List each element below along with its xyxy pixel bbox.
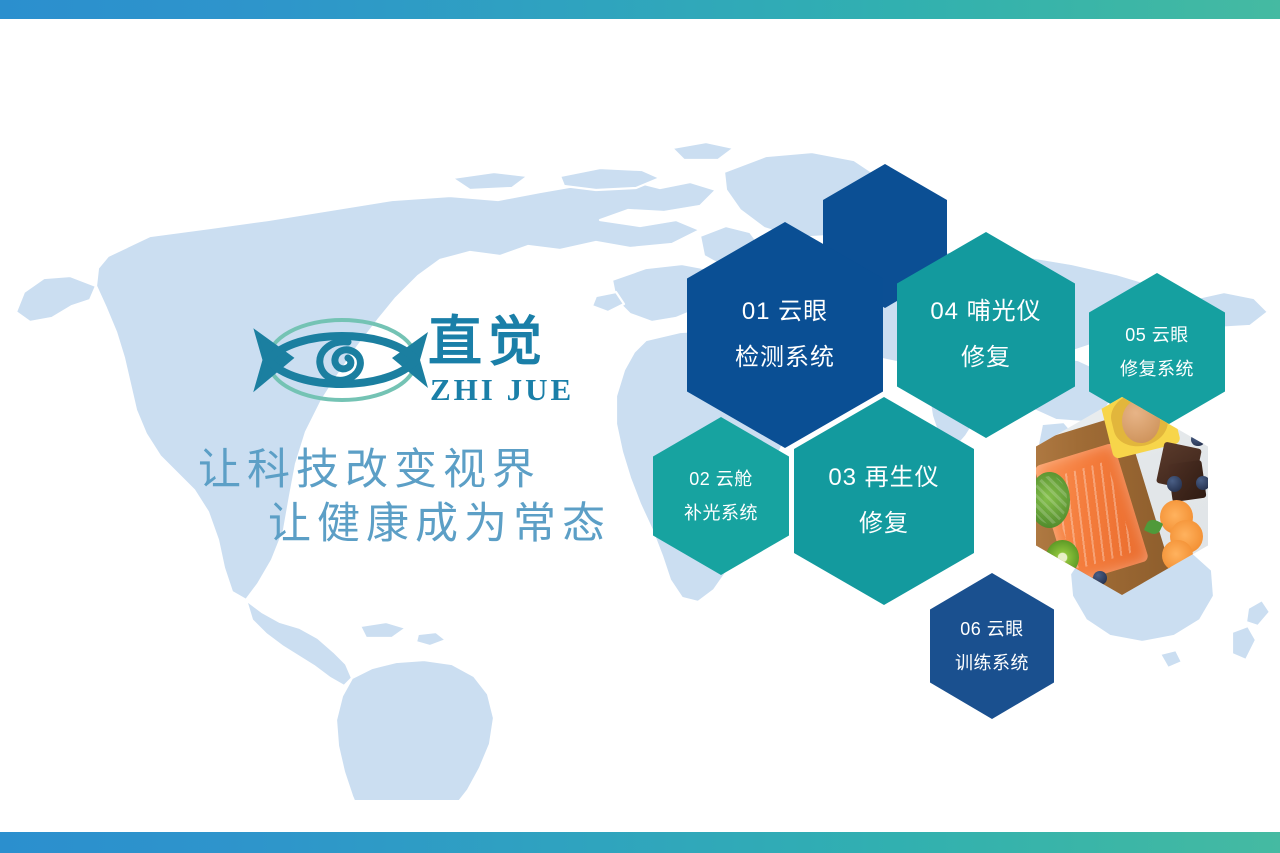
hex-03-line-2: 修复 bbox=[859, 501, 909, 547]
hex-04-line-1: 04 哺光仪 bbox=[930, 289, 1041, 335]
hex-02-line-1: 02 云舱 bbox=[689, 462, 753, 496]
food-photo bbox=[1036, 397, 1208, 595]
hex-05-line-2: 修复系统 bbox=[1120, 352, 1194, 386]
hexagon-cluster: 01 云眼检测系统04 哺光仪修复05 云眼修复系统02 云舱补光系统03 再生… bbox=[0, 0, 1280, 853]
hex-01-line-1: 01 云眼 bbox=[742, 289, 828, 335]
hex-01-line-2: 检测系统 bbox=[735, 335, 835, 381]
hex-06[interactable]: 06 云眼训练系统 bbox=[930, 573, 1054, 719]
hex-photo[interactable] bbox=[1036, 397, 1208, 595]
hex-05-line-1: 05 云眼 bbox=[1125, 318, 1189, 352]
bottom-gradient-bar bbox=[0, 832, 1280, 853]
hex-02-line-2: 补光系统 bbox=[684, 496, 758, 530]
hex-03[interactable]: 03 再生仪修复 bbox=[794, 397, 974, 605]
hex-06-line-1: 06 云眼 bbox=[960, 612, 1024, 646]
hex-03-line-1: 03 再生仪 bbox=[828, 455, 939, 501]
hex-04-line-2: 修复 bbox=[961, 335, 1011, 381]
slide-canvas: 直觉 ZHI JUE 让科技改变视界 让健康成为常态 01 云眼检测系统04 哺… bbox=[0, 0, 1280, 853]
hex-06-line-2: 训练系统 bbox=[955, 646, 1029, 680]
hex-02[interactable]: 02 云舱补光系统 bbox=[653, 417, 789, 575]
